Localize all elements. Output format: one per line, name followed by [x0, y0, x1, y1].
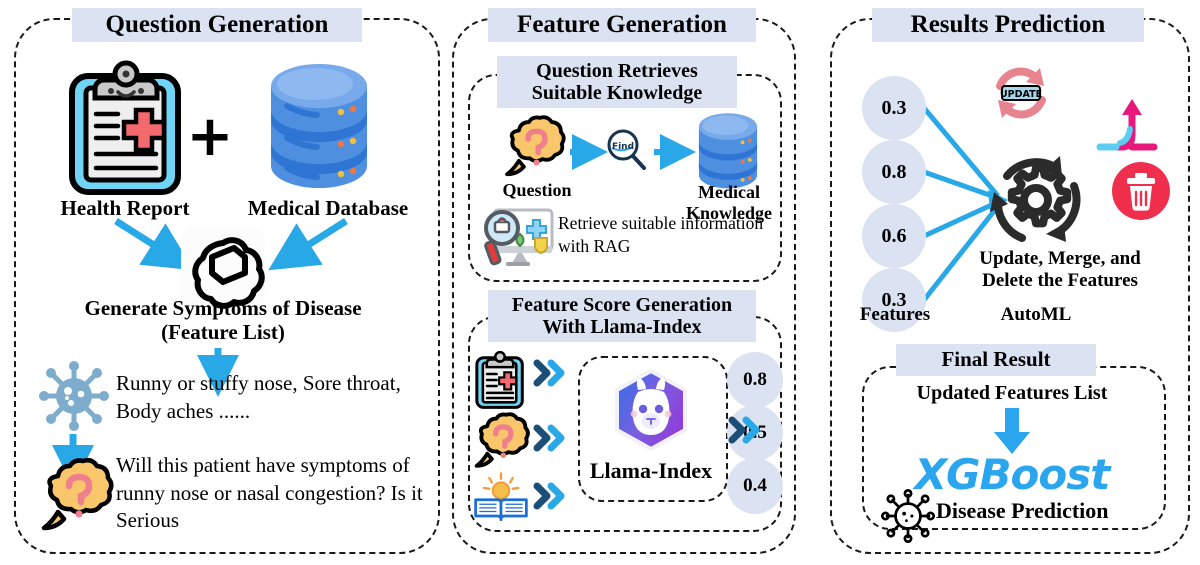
automl-caption-line-1: Update, Merge, and [979, 248, 1140, 269]
clipboard-medical-icon [472, 350, 528, 410]
generate-line-1: Generate Symptoms of Disease [84, 296, 361, 320]
symptoms-text: Runny or stuffy nose, Sore throat, Body … [116, 370, 426, 425]
database-icon [265, 62, 373, 194]
label-medical-database: Medical Database [228, 196, 428, 220]
score-circle: 0.4 [727, 458, 783, 514]
subpanel-title-question-retrieves: Question Retrieves Suitable Knowledge [497, 56, 737, 108]
label-updated-features-list: Updated Features List [872, 382, 1152, 405]
update-refresh-icon: UPDATE [990, 62, 1052, 124]
label-health-report: Health Report [35, 196, 215, 220]
score-title-line-2: With Llama-Index [542, 316, 701, 338]
score-circle: 0.8 [727, 352, 783, 408]
label-automl: AutoML [976, 304, 1096, 326]
label-features: Features [852, 304, 938, 326]
book-lightbulb-icon [472, 472, 530, 522]
chevron-double-right-icon [534, 483, 568, 509]
find-badge-text: Find [612, 142, 634, 152]
rag-monitor-search-icon [480, 206, 556, 268]
llama-index-logo-icon [612, 368, 690, 452]
feature-circle: 0.6 [862, 204, 926, 268]
panel-title-feature-generation: Feature Generation [488, 8, 756, 42]
thought-bubble-question-icon [472, 415, 530, 471]
delete-trash-icon [1110, 160, 1172, 222]
medical-knowledge-line-1: Medical [698, 182, 760, 202]
generate-line-2: (Feature List) [161, 320, 285, 344]
merge-arrow-icon [1098, 95, 1160, 157]
panel-title-question-generation: Question Generation [72, 8, 362, 42]
label-generate-symptoms: Generate Symptoms of Disease (Feature Li… [40, 296, 406, 344]
subpanel-title-final-result: Final Result [896, 344, 1096, 376]
label-disease-prediction: Disease Prediction [936, 498, 1152, 523]
virus-icon [38, 360, 110, 432]
feature-circle: 0.3 [862, 76, 926, 140]
update-badge-text: UPDATE [1000, 89, 1042, 100]
chevron-double-right-icon [729, 417, 763, 443]
xgboost-logo-text: XGBoost [862, 450, 1162, 499]
retrieve-title-line-2: Suitable Knowledge [532, 82, 703, 104]
rag-description-text: Retrieve suitable information with RAG [558, 212, 780, 258]
question-text: Will this patient have symptoms of runny… [116, 452, 428, 535]
clipboard-medical-icon [62, 58, 190, 198]
label-automl-caption: Update, Merge, and Delete the Features [952, 248, 1168, 292]
score-title-line-1: Feature Score Generation [512, 294, 732, 316]
automl-caption-line-2: Delete the Features [982, 270, 1138, 291]
label-question: Question [492, 180, 582, 201]
retrieve-title-line-1: Question Retrieves [536, 60, 698, 82]
label-llama-index: Llama-Index [578, 458, 724, 484]
panel-title-results-prediction: Results Prediction [872, 8, 1144, 42]
chevron-double-right-icon [534, 360, 568, 386]
thought-bubble-question-icon [502, 118, 566, 180]
subpanel-title-feature-score: Feature Score Generation With Llama-Inde… [488, 290, 756, 342]
plus-symbol: + [180, 105, 240, 169]
chevron-double-right-icon [534, 425, 568, 451]
database-icon [694, 112, 762, 192]
find-magnifier-icon: Find [604, 128, 650, 174]
thought-bubble-question-icon [38, 462, 114, 534]
feature-circle: 0.8 [862, 140, 926, 204]
gear-cycle-icon [982, 146, 1090, 254]
